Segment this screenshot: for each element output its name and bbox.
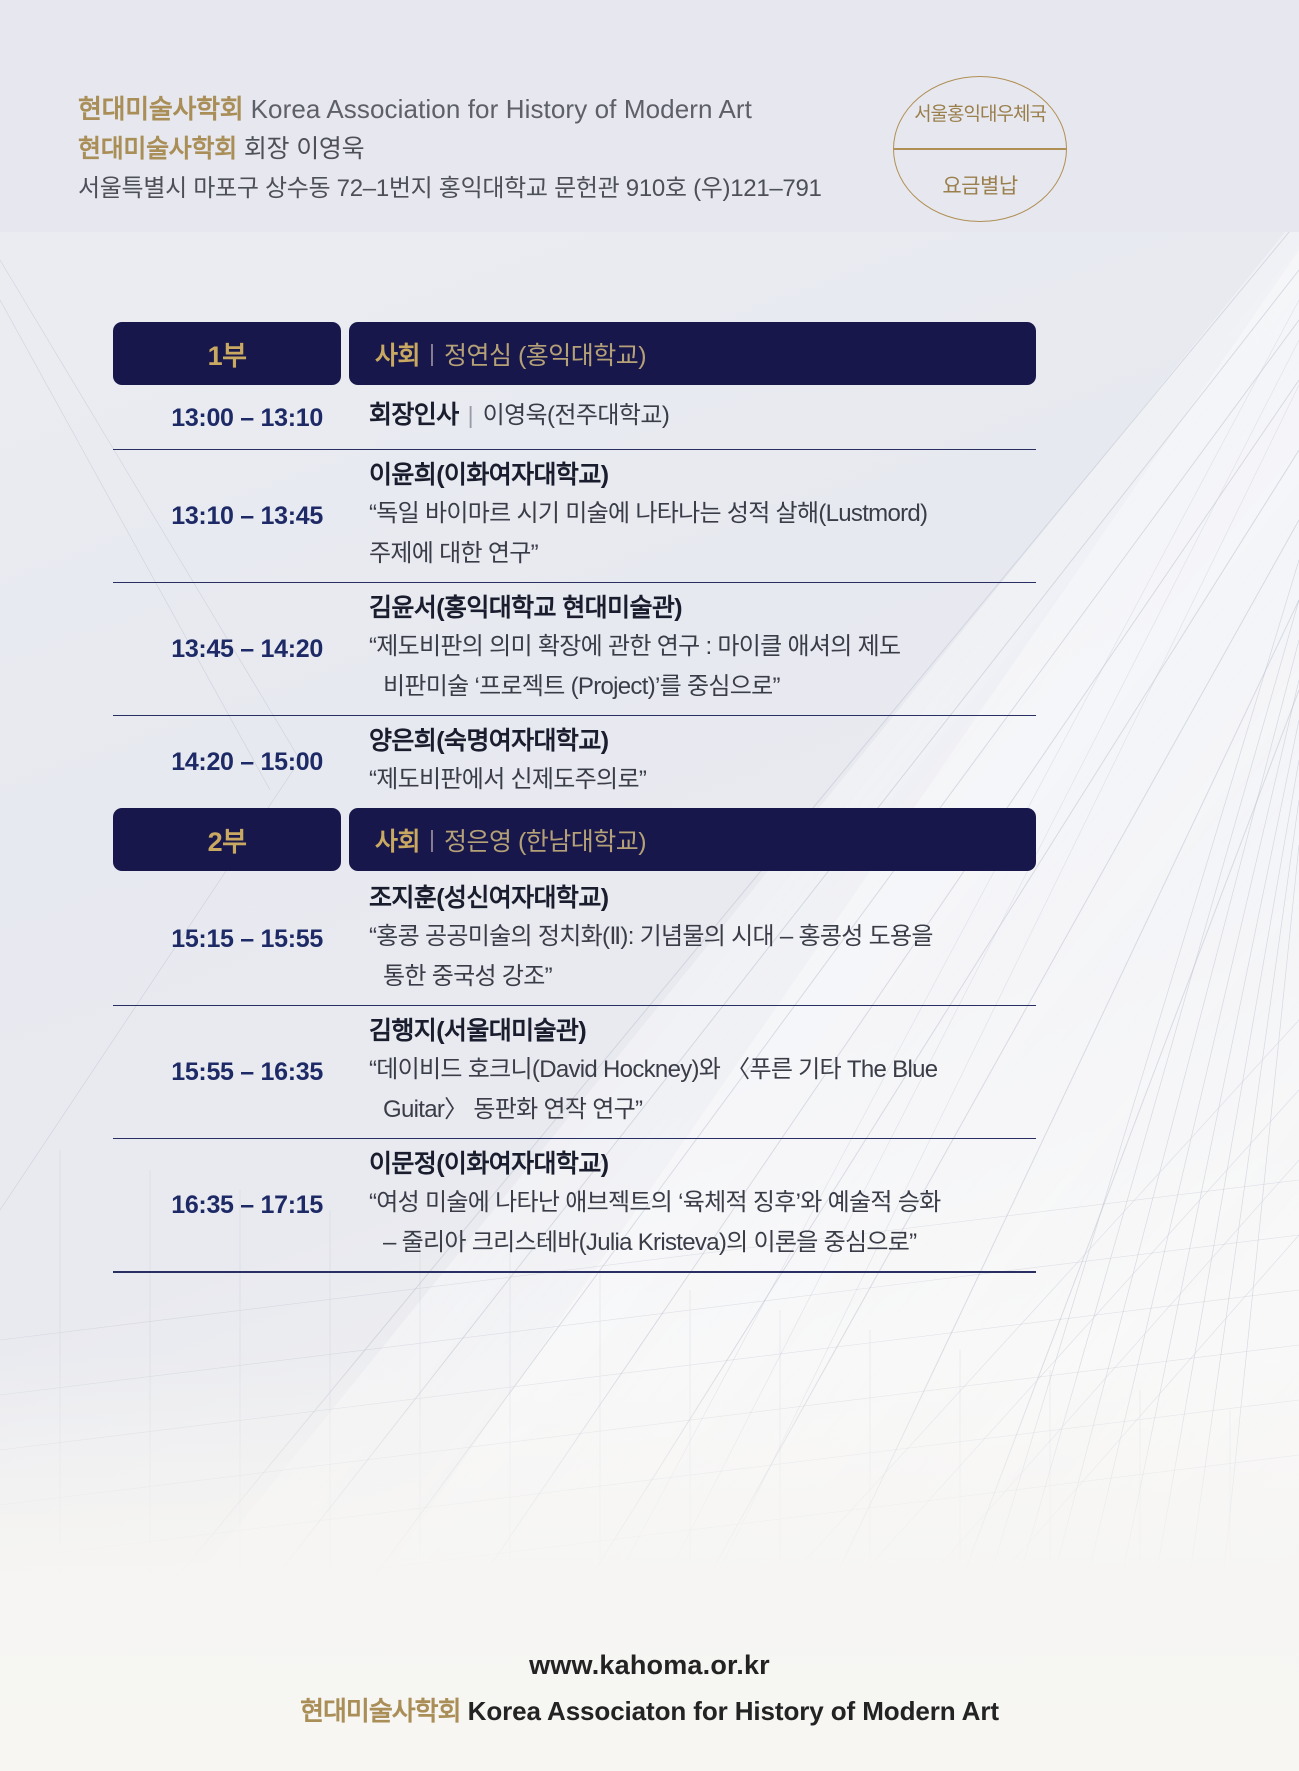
row-time: 16:35 – 17:15 <box>113 1191 341 1220</box>
presenter-name: 양은희(숙명여자대학교) <box>369 722 1036 760</box>
session-chair-bar: 사회|정연심 (홍익대학교) <box>349 322 1036 385</box>
row-body: 조지훈(성신여자대학교)“홍콩 공공미술의 정치화(Ⅱ): 기념물의 시대 – … <box>341 873 1036 1005</box>
session-header: 2부사회|정은영 (한남대학교) <box>113 808 1036 871</box>
paper-title-line: 주제에 대한 연구” <box>369 534 1036 574</box>
schedule-row: 13:00 – 13:10회장인사|이영욱(전주대학교) <box>113 387 1036 449</box>
chair-name: 정연심 (홍익대학교) <box>444 336 646 372</box>
row-body: 김행지(서울대미술관)“데이비드 호크니(David Hockney)와 〈푸른… <box>341 1006 1036 1138</box>
schedule-row: 15:15 – 15:55조지훈(성신여자대학교)“홍콩 공공미술의 정치화(Ⅱ… <box>113 873 1036 1005</box>
program-schedule: 1부사회|정연심 (홍익대학교)13:00 – 13:10회장인사|이영욱(전주… <box>113 322 1036 1273</box>
postal-office-name: 서울홍익대우체국 <box>914 77 1046 148</box>
website-url[interactable]: www.kahoma.or.kr <box>0 1650 1299 1681</box>
chair-name: 정은영 (한남대학교) <box>444 822 646 858</box>
org-name-en: Korea Association for History of Modern … <box>251 94 752 124</box>
greeting-line: 회장인사|이영욱(전주대학교) <box>369 396 1036 438</box>
postal-mark-circle: 서울홍익대우체국 요금별납 <box>893 76 1067 222</box>
schedule-row: 13:10 – 13:45이윤희(이화여자대학교)“독일 바이마르 시기 미술에… <box>113 449 1036 582</box>
greeting-divider: | <box>468 402 474 428</box>
row-body: 이문정(이화여자대학교)“여성 미술에 나타난 애브젝트의 ‘육체적 징후’와 … <box>341 1139 1036 1271</box>
paper-title-line: Guitar〉 동판화 연작 연구” <box>369 1090 1036 1130</box>
schedule-row: 15:55 – 16:35김행지(서울대미술관)“데이비드 호크니(David … <box>113 1005 1036 1138</box>
footer-org-line: 현대미술사학회 Korea Associaton for History of … <box>0 1691 1299 1728</box>
row-time: 13:00 – 13:10 <box>113 404 341 433</box>
paper-title-line: “홍콩 공공미술의 정치화(Ⅱ): 기념물의 시대 – 홍콩성 도용을 <box>369 917 1036 957</box>
org-title-line: 현대미술사학회 Korea Association for History of… <box>78 92 878 126</box>
schedule-row: 14:20 – 15:00양은희(숙명여자대학교)“제도비판에서 신제도주의로” <box>113 715 1036 808</box>
row-time: 13:45 – 14:20 <box>113 635 341 664</box>
president-line: 현대미술사학회 회장 이영욱 <box>78 132 878 166</box>
footer: www.kahoma.or.kr 현대미술사학회 Korea Associato… <box>0 1650 1299 1728</box>
row-body: 회장인사|이영욱(전주대학교) <box>341 390 1036 446</box>
greeting-heading: 회장인사 <box>369 401 459 429</box>
row-time: 14:20 – 15:00 <box>113 748 341 777</box>
row-body: 김윤서(홍익대학교 현대미술관)“제도비판의 의미 확장에 관한 연구 : 마이… <box>341 583 1036 715</box>
poster-page: 현대미술사학회 Korea Association for History of… <box>0 0 1299 1771</box>
president-label: 회장 <box>244 135 289 163</box>
presenter-name: 이윤희(이화여자대학교) <box>369 456 1036 494</box>
org-name-ko: 현대미술사학회 <box>78 94 243 124</box>
presenter-name: 김행지(서울대미술관) <box>369 1012 1036 1050</box>
masthead: 현대미술사학회 Korea Association for History of… <box>78 92 878 212</box>
president-name: 이영욱 <box>296 135 364 163</box>
session-chair-bar: 사회|정은영 (한남대학교) <box>349 808 1036 871</box>
footer-org-en: Korea Associaton for History of Modern A… <box>468 1696 999 1726</box>
session-header: 1부사회|정연심 (홍익대학교) <box>113 322 1036 385</box>
row-body: 양은희(숙명여자대학교)“제도비판에서 신제도주의로” <box>341 716 1036 808</box>
session-part-label: 2부 <box>113 808 341 871</box>
chair-label: 사회 <box>375 822 420 858</box>
schedule-row: 13:45 – 14:20김윤서(홍익대학교 현대미술관)“제도비판의 의미 확… <box>113 582 1036 715</box>
presenter-name: 김윤서(홍익대학교 현대미술관) <box>369 589 1036 627</box>
greeting-person: 이영욱(전주대학교) <box>483 402 670 429</box>
presenter-name: 이문정(이화여자대학교) <box>369 1145 1036 1183</box>
org-address: 서울특별시 마포구 상수동 72–1번지 홍익대학교 문헌관 910호 (우)1… <box>78 172 878 206</box>
row-body: 이윤희(이화여자대학교)“독일 바이마르 시기 미술에 나타나는 성적 살해(L… <box>341 450 1036 582</box>
paper-title-line: – 줄리아 크리스테바(Julia Kristeva)의 이론을 중심으로” <box>369 1223 1036 1263</box>
row-time: 15:15 – 15:55 <box>113 925 341 954</box>
chair-label: 사회 <box>375 336 420 372</box>
session-part-label: 1부 <box>113 322 341 385</box>
chair-divider: | <box>429 340 435 367</box>
row-time: 13:10 – 13:45 <box>113 502 341 531</box>
president-org-ko: 현대미술사학회 <box>78 135 237 163</box>
program-bottom-rule <box>113 1271 1036 1273</box>
postal-type-label: 요금별납 <box>942 150 1017 221</box>
paper-title-line: 비판미술 ‘프로젝트 (Project)’를 중심으로” <box>369 667 1036 707</box>
footer-org-ko: 현대미술사학회 <box>300 1696 460 1726</box>
paper-title-line: “제도비판의 의미 확장에 관한 연구 : 마이클 애셔의 제도 <box>369 627 1036 667</box>
presenter-name: 조지훈(성신여자대학교) <box>369 879 1036 917</box>
paper-title-line: “독일 바이마르 시기 미술에 나타나는 성적 살해(Lustmord) <box>369 494 1036 534</box>
row-time: 15:55 – 16:35 <box>113 1058 341 1087</box>
paper-title-line: “제도비판에서 신제도주의로” <box>369 760 1036 800</box>
paper-title-line: “데이비드 호크니(David Hockney)와 〈푸른 기타 The Blu… <box>369 1050 1036 1090</box>
chair-divider: | <box>429 826 435 853</box>
paper-title-line: 통한 중국성 강조” <box>369 957 1036 997</box>
schedule-row: 16:35 – 17:15이문정(이화여자대학교)“여성 미술에 나타난 애브젝… <box>113 1138 1036 1271</box>
paper-title-line: “여성 미술에 나타난 애브젝트의 ‘육체적 징후’와 예술적 승화 <box>369 1183 1036 1223</box>
